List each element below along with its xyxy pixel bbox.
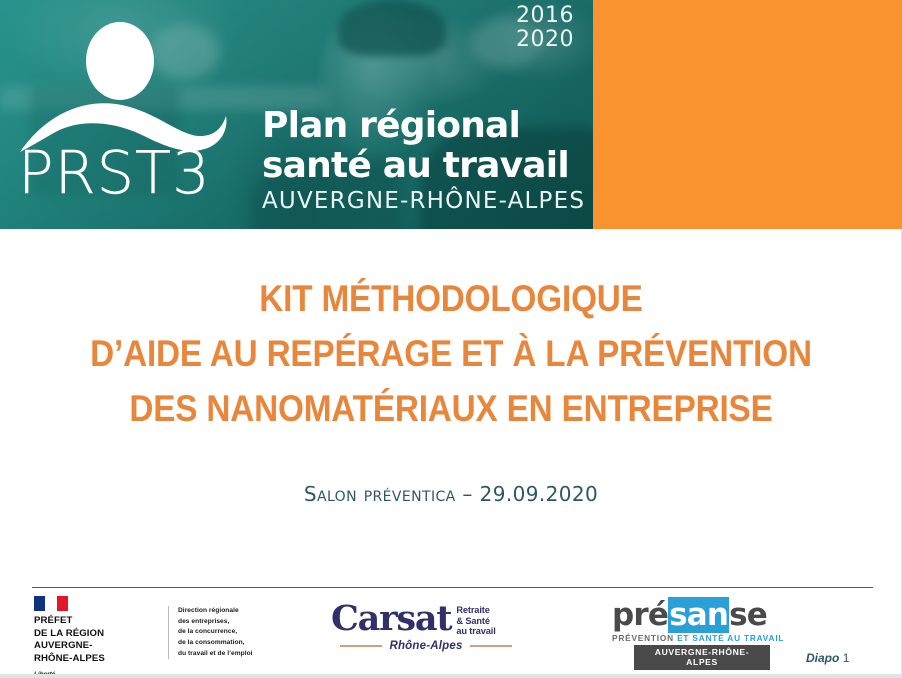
presanse-tagline: PRÉVENTION ET SANTÉ AU TRAVAIL xyxy=(612,633,792,643)
page-subtitle: Salon préventica – 29.09.2020 xyxy=(0,482,902,506)
carsat-wordmark: Carsat xyxy=(331,602,451,636)
footer-divider xyxy=(32,587,873,588)
slide-indicator-number: 1 xyxy=(843,651,850,665)
carsat-tagline-line3: au travail xyxy=(456,626,495,637)
banner-year-start: 2016 xyxy=(516,4,574,28)
bottom-edge-strip xyxy=(0,674,902,678)
carsat-tagline-line2: & Santé xyxy=(456,616,495,627)
banner-headline-line1: Plan régional xyxy=(262,106,585,146)
page-title-line3: DES NANOMATÉRIAUX EN ENTREPRISE xyxy=(45,382,857,437)
banner-years: 2016 2020 xyxy=(516,4,574,52)
carsat-tagline-line1: Retraite xyxy=(456,605,495,616)
carsat-main-row: Carsat Retraite & Santé au travail xyxy=(331,602,521,637)
direccte-line3: de la concurrence, xyxy=(178,627,253,638)
direccte-line4: de la consommation, xyxy=(178,638,253,649)
presanse-word-pre: pré xyxy=(612,597,668,633)
header-banner: PRST3 2016 2020 Plan régional santé au t… xyxy=(0,0,902,229)
page-title-line1: KIT MÉTHODOLOGIQUE xyxy=(45,272,857,327)
direccte-line1: Direction régionale xyxy=(178,606,253,617)
presanse-tagline-prevention: PRÉVENTION xyxy=(612,633,674,643)
prst3-head-icon xyxy=(86,22,154,100)
presanse-word-se: se xyxy=(729,597,767,633)
presanse-word-san: san xyxy=(668,597,729,633)
carsat-region-label: Rhône-Alpes xyxy=(389,640,462,652)
banner-headline: Plan régional santé au travail AUVERGNE-… xyxy=(262,106,585,214)
banner-headline-line2: santé au travail xyxy=(262,146,585,186)
french-flag-icon xyxy=(34,596,68,611)
prefet-name: PRÉFET DE LA RÉGION AUVERGNE- RHÔNE-ALPE… xyxy=(34,615,154,666)
prefet-name-line3: AUVERGNE- xyxy=(34,640,154,653)
carsat-tagline: Retraite & Santé au travail xyxy=(456,605,495,637)
prefet-logo: PRÉFET DE LA RÉGION AUVERGNE- RHÔNE-ALPE… xyxy=(34,596,154,678)
prst3-wordmark: PRST3 xyxy=(18,143,211,202)
page-title: KIT MÉTHODOLOGIQUE D’AIDE AU REPÉRAGE ET… xyxy=(0,272,902,436)
slide-indicator-label: Diapo xyxy=(806,651,839,665)
presanse-region-bar: AUVERGNE-RHÔNE-ALPES xyxy=(634,645,770,670)
prefet-name-line1: PRÉFET xyxy=(34,615,154,628)
carsat-logo: Carsat Retraite & Santé au travail Rhône… xyxy=(331,602,521,652)
slide-canvas: PRST3 2016 2020 Plan régional santé au t… xyxy=(0,0,902,678)
presanse-logo: présanse PRÉVENTION ET SANTÉ AU TRAVAIL … xyxy=(612,600,792,670)
direccte-block: Direction régionale des entreprises, de … xyxy=(168,606,253,659)
direccte-line2: des entreprises, xyxy=(178,617,253,628)
direccte-line5: du travail et de l’emploi xyxy=(178,649,253,660)
prst3-logo: PRST3 xyxy=(18,18,243,218)
banner-region-label: AUVERGNE-RHÔNE-ALPES xyxy=(262,188,585,214)
slide-indicator: Diapo 1 xyxy=(806,651,849,665)
page-title-line2: D’AIDE AU REPÉRAGE ET À LA PRÉVENTION xyxy=(45,327,857,382)
carsat-rule-left xyxy=(340,645,382,647)
carsat-region-row: Rhône-Alpes xyxy=(331,640,521,652)
banner-year-end: 2020 xyxy=(516,28,574,52)
banner-orange-block xyxy=(593,0,902,229)
prefet-name-line2: DE LA RÉGION xyxy=(34,628,154,641)
prefet-name-line4: RHÔNE-ALPES xyxy=(34,653,154,666)
carsat-rule-right xyxy=(470,645,512,647)
presanse-tagline-sante: ET SANTÉ AU TRAVAIL xyxy=(677,633,784,643)
footer-logos: PRÉFET DE LA RÉGION AUVERGNE- RHÔNE-ALPE… xyxy=(0,592,902,678)
presanse-wordmark: présanse xyxy=(612,600,792,631)
